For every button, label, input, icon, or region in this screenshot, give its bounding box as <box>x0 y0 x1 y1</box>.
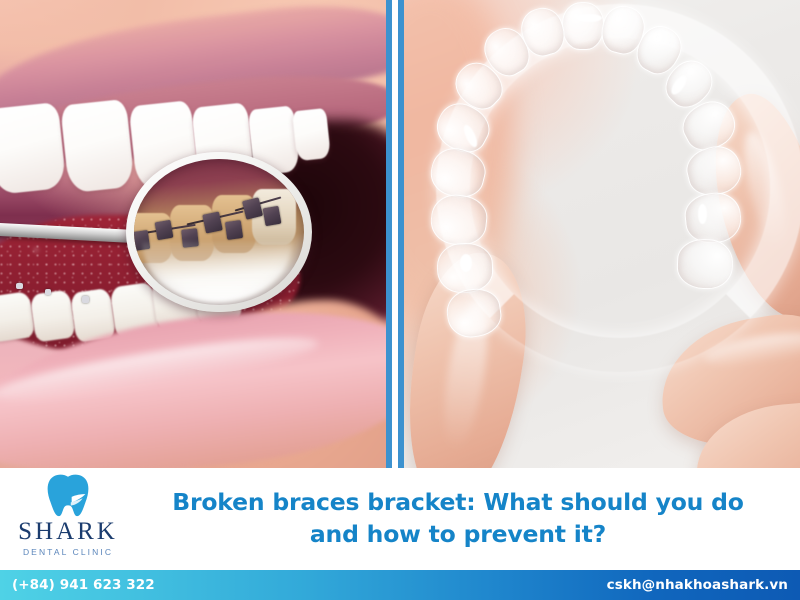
tooth-with-shark-fin-icon <box>45 474 91 518</box>
bracket-glint <box>45 289 51 295</box>
braces-bracket <box>225 220 243 240</box>
headline-line-2: and how to prevent it? <box>310 519 606 551</box>
aligner-specular-highlight <box>576 14 602 22</box>
aligner-tooth <box>562 2 604 50</box>
photo-strip <box>0 0 800 468</box>
braces-bracket <box>263 206 282 227</box>
clinic-logo-name: SHARK <box>14 519 122 544</box>
braces-bracket <box>202 211 223 233</box>
photo-braces-mouth <box>0 0 386 468</box>
photo-clear-aligner <box>404 0 800 468</box>
clear-aligner-tray <box>436 4 736 334</box>
aligner-tooth <box>676 238 734 290</box>
dental-clinic-banner: SHARK DENTAL CLINIC Broken braces bracke… <box>0 0 800 600</box>
email-address[interactable]: cskh@nhakhoashark.vn <box>607 577 788 593</box>
phone-number[interactable]: (+84) 941 623 322 <box>12 577 155 593</box>
aligner-specular-highlight <box>460 254 472 272</box>
caption-band: SHARK DENTAL CLINIC Broken braces bracke… <box>0 468 800 570</box>
contact-bar: (+84) 941 623 322 cskh@nhakhoashark.vn <box>0 570 800 600</box>
bracket-glint <box>16 283 23 289</box>
aligner-specular-highlight <box>698 204 707 224</box>
clinic-logo-subtitle: DENTAL CLINIC <box>14 547 122 557</box>
braces-bracket <box>155 220 174 241</box>
headline-line-1: Broken braces bracket: What should you d… <box>172 487 743 519</box>
bracket-glint <box>82 296 89 303</box>
headline: Broken braces bracket: What should you d… <box>128 468 788 570</box>
clinic-logo[interactable]: SHARK DENTAL CLINIC <box>14 474 122 557</box>
